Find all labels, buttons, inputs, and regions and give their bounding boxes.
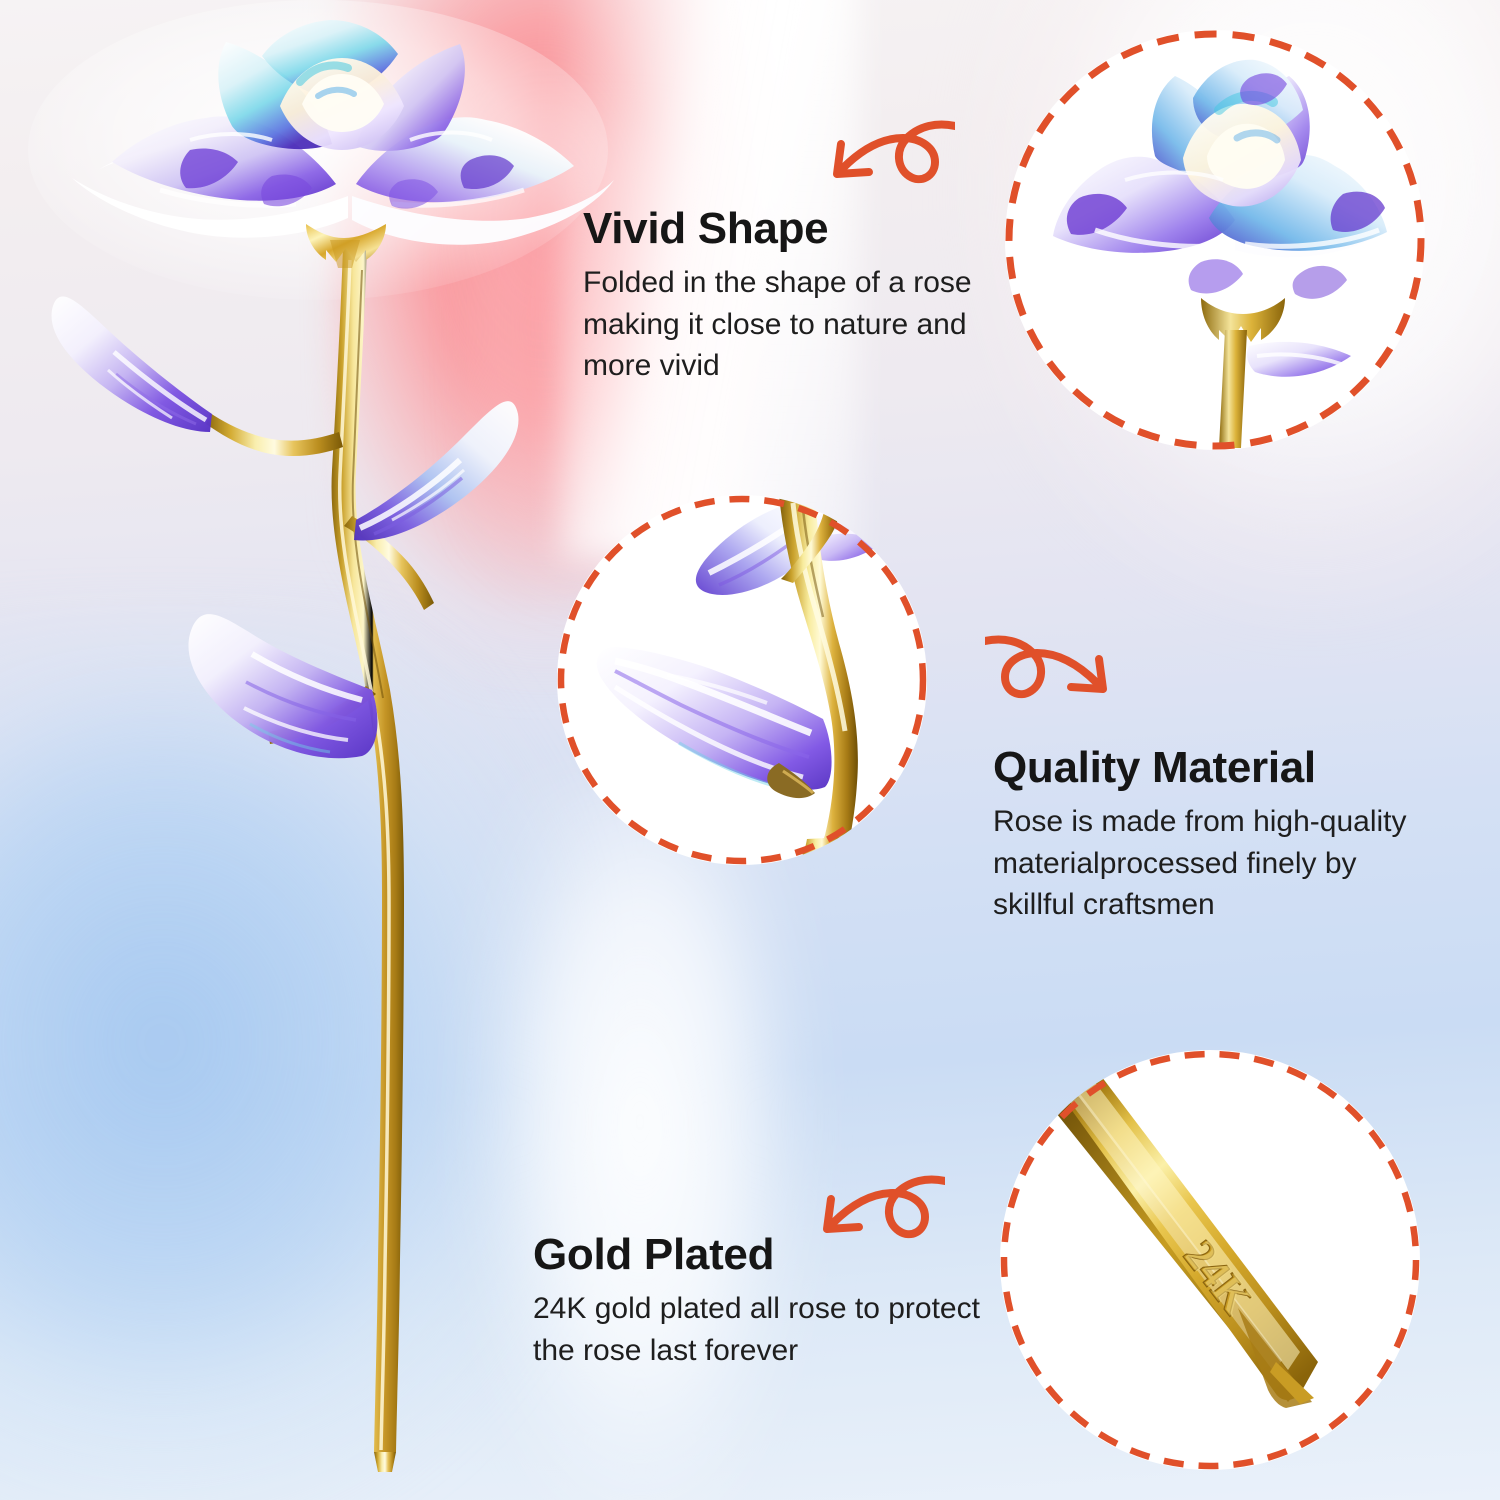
- feature-title-quality-material: Quality Material: [993, 745, 1423, 791]
- feature-block-quality-material: Quality Material Rose is made from high-…: [993, 745, 1423, 925]
- feature-block-vivid-shape: Vivid Shape Folded in the shape of a ros…: [583, 206, 983, 386]
- inset-stem-leaf-art: [557, 495, 927, 865]
- feature-body-quality-material: Rose is made from high-quality materialp…: [993, 801, 1423, 925]
- curly-arrow-right-icon-quality-material: [985, 635, 1125, 745]
- leaf-top-right: [354, 401, 518, 540]
- feature-title-vivid-shape: Vivid Shape: [583, 206, 983, 252]
- feature-title-gold-plated: Gold Plated: [533, 1232, 998, 1278]
- product-infographic-page: 24K 24K Vivid Shape Folded in the shape …: [0, 0, 1500, 1500]
- leaf-top-left: [52, 297, 212, 432]
- inset-gold-stamp-art: 24K 24K: [1000, 1050, 1420, 1470]
- leaf-lower-left: [188, 614, 377, 758]
- inset-circle-gold-plated: 24K 24K: [1000, 1050, 1420, 1470]
- inset-circle-quality-material: [557, 495, 927, 865]
- feature-body-gold-plated: 24K gold plated all rose to protect the …: [533, 1288, 998, 1371]
- feature-body-vivid-shape: Folded in the shape of a rose making it …: [583, 262, 983, 386]
- inset-circle-vivid-shape: [1005, 30, 1425, 450]
- feature-block-gold-plated: Gold Plated 24K gold plated all rose to …: [533, 1232, 998, 1371]
- inset-rose-bloom-art: [1005, 30, 1425, 450]
